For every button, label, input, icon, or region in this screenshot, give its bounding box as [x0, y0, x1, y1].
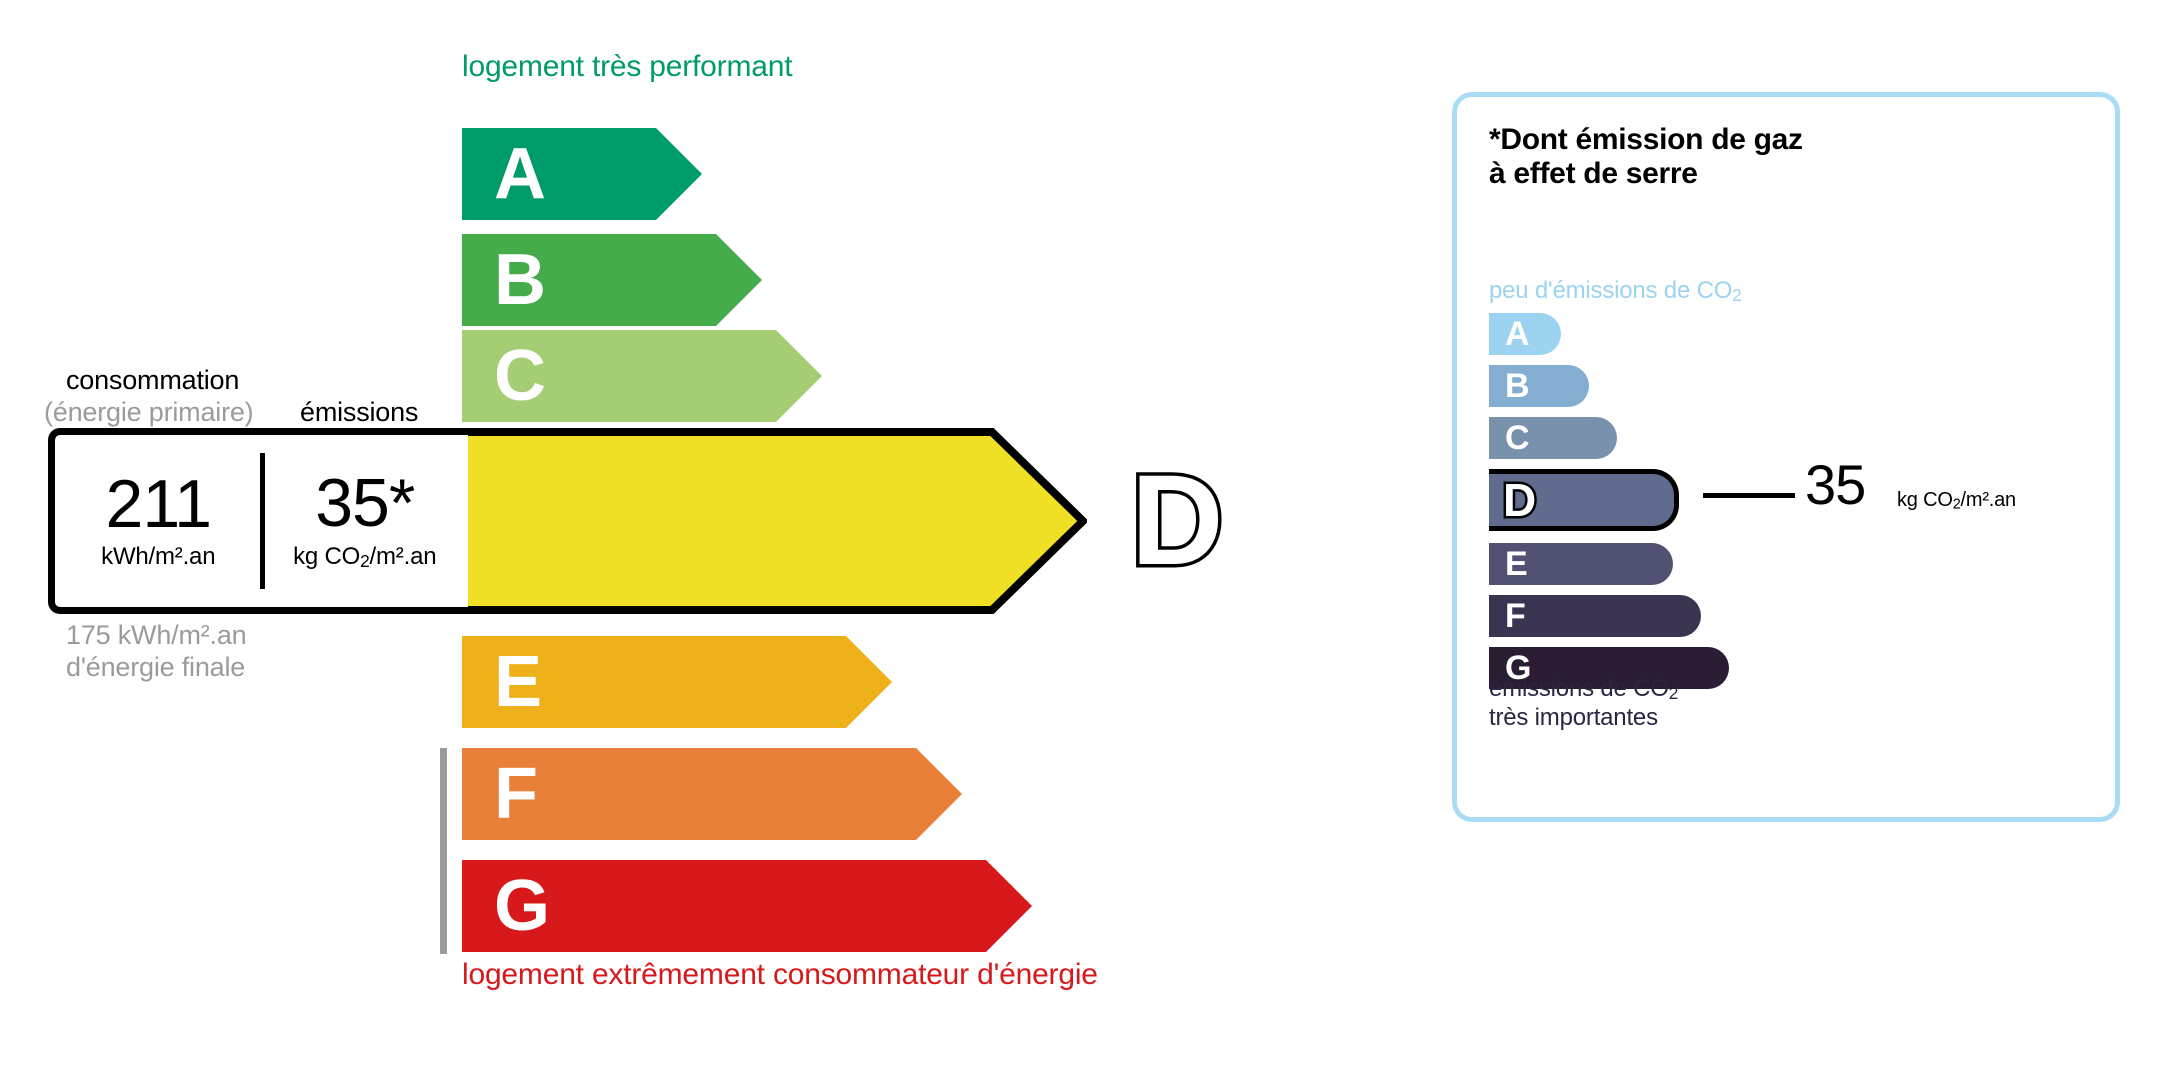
- co2-bar-selected: D: [1489, 469, 1679, 531]
- co2-bar-letter-f: F: [1505, 599, 1526, 633]
- consumption-cell: 211 kWh/m².an: [55, 435, 262, 607]
- header-primary-energy: (énergie primaire): [44, 397, 253, 428]
- co2-panel: *Dont émission de gaz à effet de serre p…: [1452, 92, 2120, 822]
- co2-bar-b: B: [1489, 365, 1589, 407]
- energy-band-letter-a: A: [494, 138, 546, 210]
- energy-band-selected: D: [462, 428, 1223, 614]
- co2-bottom-caption: émissions de CO2 très importantes: [1489, 675, 1678, 733]
- energy-band-c: C: [462, 330, 822, 422]
- co2-bottom-line1: émissions de CO2: [1489, 675, 1678, 704]
- energy-band-letter-e: E: [494, 646, 542, 718]
- band-arrow-shape-d: [462, 428, 1087, 614]
- energy-bottom-caption: logement extrêmement consommateur d'éner…: [462, 958, 1098, 992]
- co2-title-line2: à effet de serre: [1489, 157, 1803, 191]
- co2-top-caption: peu d'émissions de CO2: [1489, 277, 1742, 306]
- co2-bar-c: C: [1489, 417, 1617, 459]
- co2-bar-letter-b: B: [1505, 369, 1530, 403]
- energy-band-letter-b: B: [494, 244, 546, 316]
- energy-band-b: B: [462, 234, 762, 326]
- co2-bar-letter-a: A: [1505, 317, 1530, 351]
- co2-bar-letter-c: C: [1505, 421, 1530, 455]
- consumption-value: 211: [106, 471, 211, 538]
- consumption-unit: kWh/m².an: [101, 543, 215, 571]
- final-energy-line1: 175 kWh/m².an: [66, 620, 246, 652]
- energy-band-letter-c: C: [494, 340, 546, 412]
- energy-top-caption: logement très performant: [462, 50, 792, 84]
- final-energy-line2: d'énergie finale: [66, 652, 246, 684]
- emissions-value: 35*: [315, 470, 414, 537]
- emissions-cell: 35* kg CO2/m².an: [262, 435, 469, 607]
- co2-panel-title: *Dont émission de gaz à effet de serre: [1489, 123, 1803, 191]
- energy-band-e: E: [462, 636, 892, 728]
- energy-band-letter-d: D: [1131, 457, 1223, 585]
- co2-callout-unit: kg CO2/m².an: [1897, 489, 2016, 513]
- co2-bottom-line2: très importantes: [1489, 704, 1678, 733]
- energy-band-letter-f: F: [494, 758, 538, 830]
- co2-bar-letter-e: E: [1505, 547, 1528, 581]
- emissions-unit: kg CO2/m².an: [293, 543, 436, 572]
- co2-bar-a: A: [1489, 313, 1561, 355]
- co2-callout-leader-line: [1703, 493, 1795, 498]
- co2-bar-letter-d: D: [1503, 477, 1536, 523]
- header-consumption: consommation: [66, 365, 239, 396]
- value-box: 211 kWh/m².an 35* kg CO2/m².an: [48, 428, 468, 614]
- co2-title-line1: *Dont émission de gaz: [1489, 123, 1803, 157]
- energy-band-letter-g: G: [494, 870, 550, 942]
- co2-bar-f: F: [1489, 595, 1701, 637]
- energy-band-f: F: [462, 748, 962, 840]
- energy-band-g: G: [462, 860, 1032, 952]
- header-emissions: émissions: [300, 397, 418, 428]
- passoire-bracket: [440, 748, 447, 954]
- energy-performance-chart: logement très performant ABCEFG D 211 kW…: [0, 0, 1390, 1079]
- co2-callout-value: 35: [1805, 457, 1865, 513]
- co2-bar-e: E: [1489, 543, 1673, 585]
- final-energy-note: 175 kWh/m².an d'énergie finale: [66, 620, 246, 684]
- energy-band-a: A: [462, 128, 702, 220]
